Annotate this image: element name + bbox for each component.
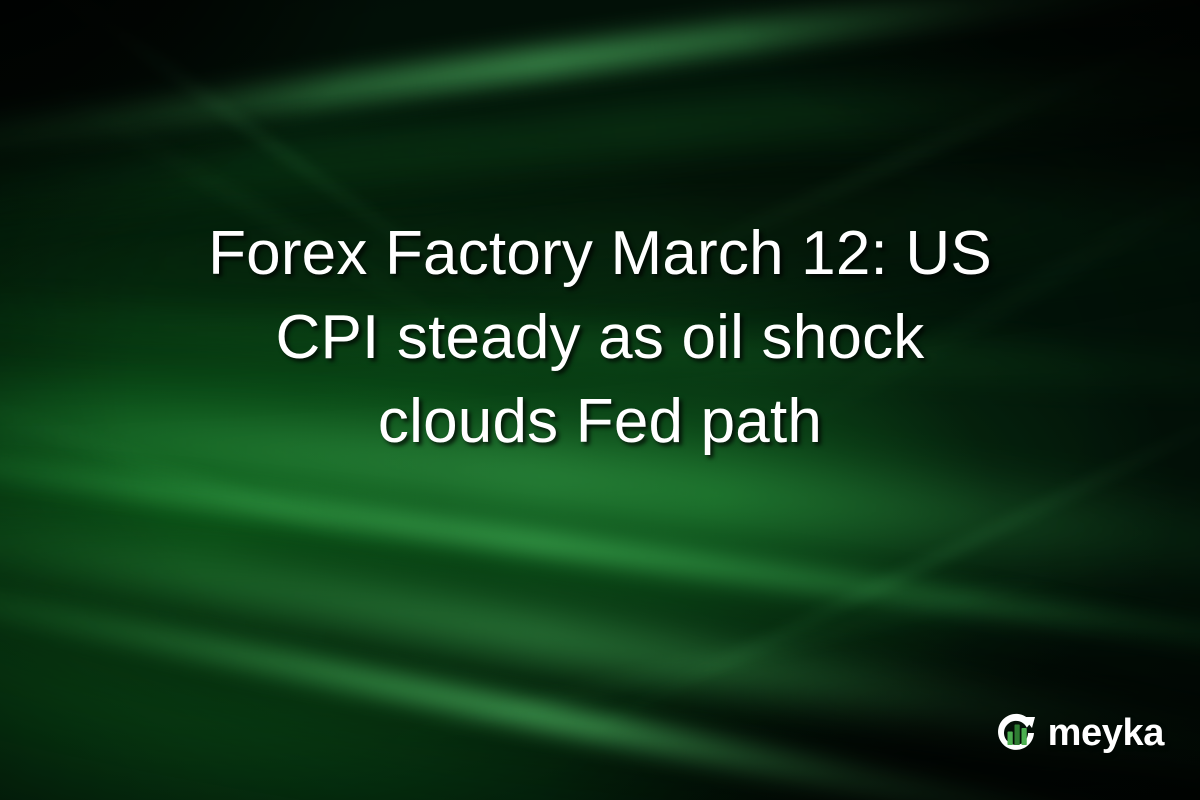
logo-bar-right <box>1021 728 1026 745</box>
logo-bar-middle <box>1014 725 1019 746</box>
meyka-wordmark: meyka <box>1048 714 1164 752</box>
meyka-circle-bars-icon <box>992 708 1042 758</box>
logo-bar-left <box>1007 732 1012 746</box>
article-headline: Forex Factory March 12: US CPI steady as… <box>0 212 1200 465</box>
background-light-band-8 <box>0 520 1200 800</box>
article-card: Forex Factory March 12: US CPI steady as… <box>0 0 1200 800</box>
background-light-band-1 <box>0 0 1200 196</box>
meyka-logo[interactable]: meyka <box>992 708 1164 758</box>
